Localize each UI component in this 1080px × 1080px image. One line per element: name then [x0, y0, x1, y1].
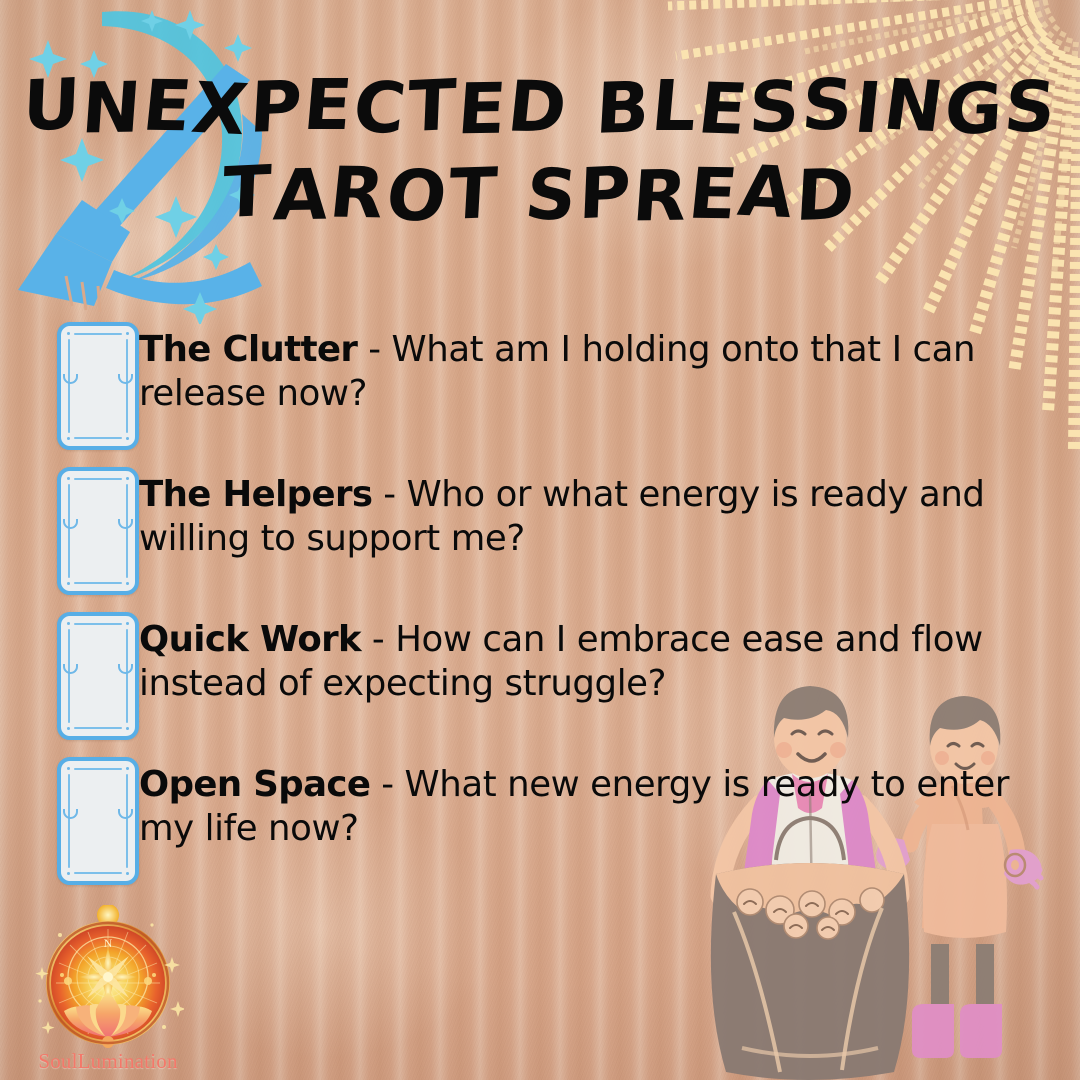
card-inner-frame	[68, 768, 128, 874]
position-text-2: The Helpers - Who or what energy is read…	[139, 467, 1080, 560]
poster-canvas: Unexpected Blessings Tarot Spread The Cl…	[0, 0, 1080, 1080]
card-inner-frame	[68, 623, 128, 729]
position-separator-2: -	[372, 474, 406, 515]
position-separator-1: -	[357, 329, 391, 370]
tarot-card-placeholder[interactable]	[57, 612, 139, 740]
list-item: The Clutter - What am I holding onto tha…	[0, 322, 1080, 467]
card-inner-frame	[68, 333, 128, 439]
card-slot-2[interactable]	[0, 467, 139, 595]
list-item: Open Space - What new energy is ready to…	[0, 757, 1080, 902]
card-slot-3[interactable]	[0, 612, 139, 740]
position-separator-4: -	[370, 764, 404, 805]
card-slot-1[interactable]	[0, 322, 139, 450]
position-separator-3: -	[361, 619, 395, 660]
title-line-2: Tarot Spread	[0, 161, 1080, 228]
position-name-2: The Helpers	[139, 474, 372, 515]
tarot-card-placeholder[interactable]	[57, 467, 139, 595]
position-name-4: Open Space	[139, 764, 370, 805]
spread-positions-list: The Clutter - What am I holding onto tha…	[0, 322, 1080, 902]
position-text-3: Quick Work - How can I embrace ease and …	[139, 612, 1080, 705]
position-name-3: Quick Work	[139, 619, 361, 660]
position-name-1: The Clutter	[139, 329, 357, 370]
tarot-card-placeholder[interactable]	[57, 322, 139, 450]
compass-lotus-medallion-icon: N	[32, 905, 184, 1057]
list-item: Quick Work - How can I embrace ease and …	[0, 612, 1080, 757]
brand-logo[interactable]: N	[22, 905, 194, 1074]
page-title: Unexpected Blessings Tarot Spread	[0, 74, 1080, 228]
position-text-4: Open Space - What new energy is ready to…	[139, 757, 1080, 850]
card-inner-frame	[68, 478, 128, 584]
title-line-1: Unexpected Blessings	[0, 74, 1080, 141]
list-item: The Helpers - Who or what energy is read…	[0, 467, 1080, 612]
position-text-1: The Clutter - What am I holding onto tha…	[139, 322, 1080, 415]
card-slot-4[interactable]	[0, 757, 139, 885]
tarot-card-placeholder[interactable]	[57, 757, 139, 885]
